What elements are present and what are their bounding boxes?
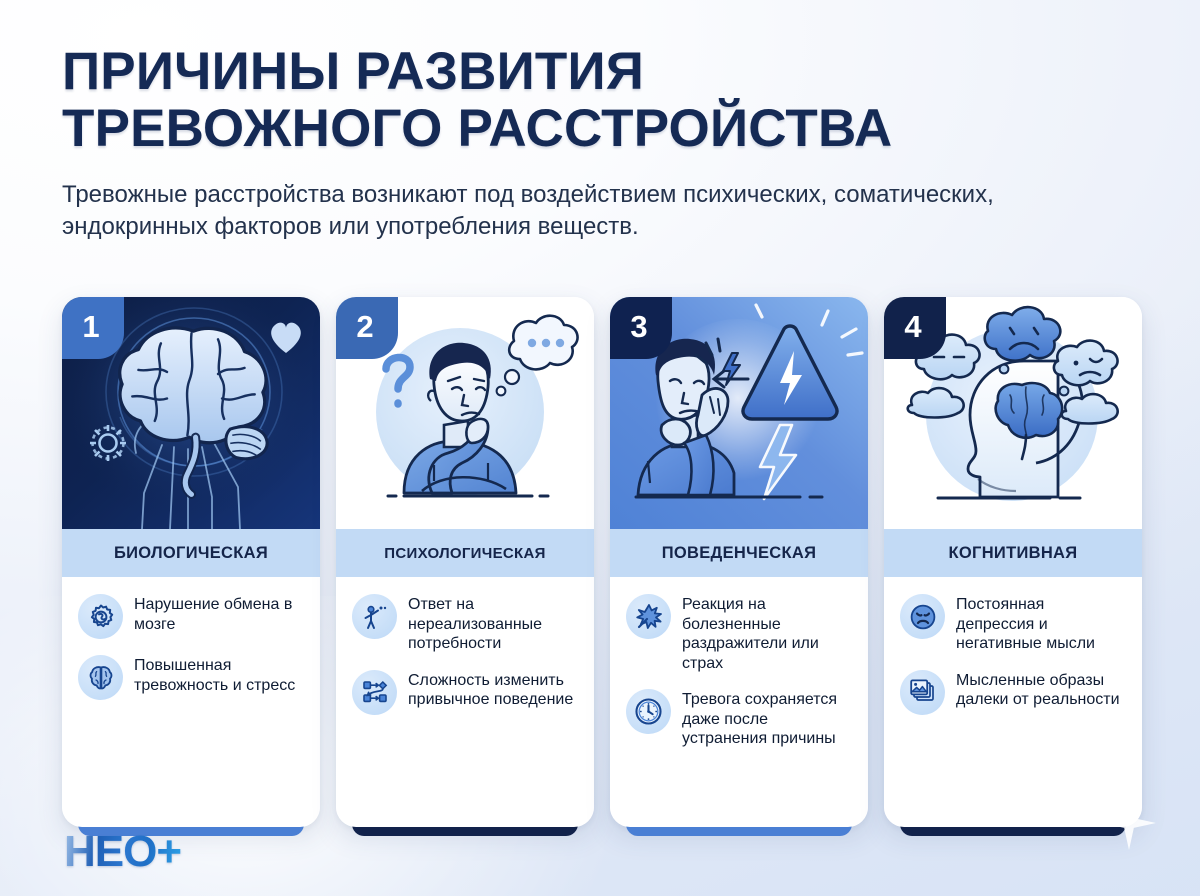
brand-logo: НЕО+ xyxy=(64,830,181,874)
page-header: ПРИЧИНЫ РАЗВИТИЯ ТРЕВОЖНОГО РАССТРОЙСТВА… xyxy=(62,44,1102,243)
card-bullets: Постоянная депрессия и негативные мысли xyxy=(884,577,1142,827)
card-label-band: ПСИХОЛОГИЧЕСКАЯ xyxy=(336,529,594,577)
card-behavioral[interactable]: 3 ПОВЕДЕНЧЕСКАЯ Реакция на болезненные xyxy=(610,297,868,827)
bullet-item: Сложность изменить привычное поведение xyxy=(352,670,578,715)
page-title-line2: ТРЕВОЖНОГО РАССТРОЙСТВА xyxy=(62,101,1102,158)
bullet-text: Ответ на нереализованные потребности xyxy=(408,594,578,654)
card-biological[interactable]: 1 БИОЛОГИЧЕСКАЯ xyxy=(62,297,320,827)
photos-icon xyxy=(900,670,945,715)
page-title-line1: ПРИЧИНЫ РАЗВИТИЯ xyxy=(62,42,644,101)
bullet-text: Нарушение обмена в мозге xyxy=(134,594,304,634)
card-psychological[interactable]: 2 ПСИХОЛОГИЧЕСКАЯ xyxy=(336,297,594,827)
bullet-item: Ответ на нереализованные потребности xyxy=(352,594,578,654)
bullet-item: Тревога сохраняется даже после устранени… xyxy=(626,689,852,749)
bullet-item: Повышенная тревожность и стресс xyxy=(78,655,304,700)
card-bullets: Нарушение обмена в мозге xyxy=(62,577,320,827)
card-image-thinking-man: 2 xyxy=(336,297,594,529)
bullet-item: Мысленные образы далеки от реальности xyxy=(900,670,1126,715)
infographic-root: ПРИЧИНЫ РАЗВИТИЯ ТРЕВОЖНОГО РАССТРОЙСТВА… xyxy=(0,0,1200,896)
gear-metabolism-icon xyxy=(78,594,123,639)
cards-row: 1 БИОЛОГИЧЕСКАЯ xyxy=(62,297,1140,827)
bullet-text: Повышенная тревожность и стресс xyxy=(134,655,304,695)
card-label: КОГНИТИВНАЯ xyxy=(949,544,1078,563)
bullet-text: Тревога сохраняется даже после устранени… xyxy=(682,689,852,749)
card-label-band: ПОВЕДЕНЧЕСКАЯ xyxy=(610,529,868,577)
card-number-badge: 1 xyxy=(62,297,124,359)
card-label-band: БИОЛОГИЧЕСКАЯ xyxy=(62,529,320,577)
bullet-item: Нарушение обмена в мозге xyxy=(78,594,304,639)
card-number-badge: 2 xyxy=(336,297,398,359)
card-image-brain-neural: 1 xyxy=(62,297,320,529)
bullet-text: Постоянная депрессия и негативные мысли xyxy=(956,594,1126,654)
bullet-text: Реакция на болезненные раздражители или … xyxy=(682,594,852,673)
person-reaching-icon xyxy=(352,594,397,639)
card-image-head-thought-clouds: 4 xyxy=(884,297,1142,529)
bullet-item: Постоянная депрессия и негативные мысли xyxy=(900,594,1126,654)
burst-impact-icon xyxy=(626,594,671,639)
card-bullets: Ответ на нереализованные потребности xyxy=(336,577,594,827)
brain-icon xyxy=(78,655,123,700)
page-title: ПРИЧИНЫ РАЗВИТИЯ ТРЕВОЖНОГО РАССТРОЙСТВА xyxy=(62,44,1102,157)
card-number-badge: 4 xyxy=(884,297,946,359)
flow-diagram-icon xyxy=(352,670,397,715)
clock-icon xyxy=(626,689,671,734)
card-bullets: Реакция на болезненные раздражители или … xyxy=(610,577,868,827)
card-label-band: КОГНИТИВНАЯ xyxy=(884,529,1142,577)
card-label: ПОВЕДЕНЧЕСКАЯ xyxy=(662,544,817,563)
bullet-text: Мысленные образы далеки от реальности xyxy=(956,670,1126,710)
card-label: ПСИХОЛОГИЧЕСКАЯ xyxy=(384,545,545,562)
page-subtitle: Тревожные расстройства возникают под воз… xyxy=(62,179,1062,242)
card-label: БИОЛОГИЧЕСКАЯ xyxy=(114,544,268,563)
card-image-startled-man-warning: 3 xyxy=(610,297,868,529)
bullet-text: Сложность изменить привычное поведение xyxy=(408,670,578,710)
card-cognitive[interactable]: 4 КОГНИТИВНАЯ xyxy=(884,297,1142,827)
sad-face-icon xyxy=(900,594,945,639)
card-number-badge: 3 xyxy=(610,297,672,359)
bullet-item: Реакция на болезненные раздражители или … xyxy=(626,594,852,673)
